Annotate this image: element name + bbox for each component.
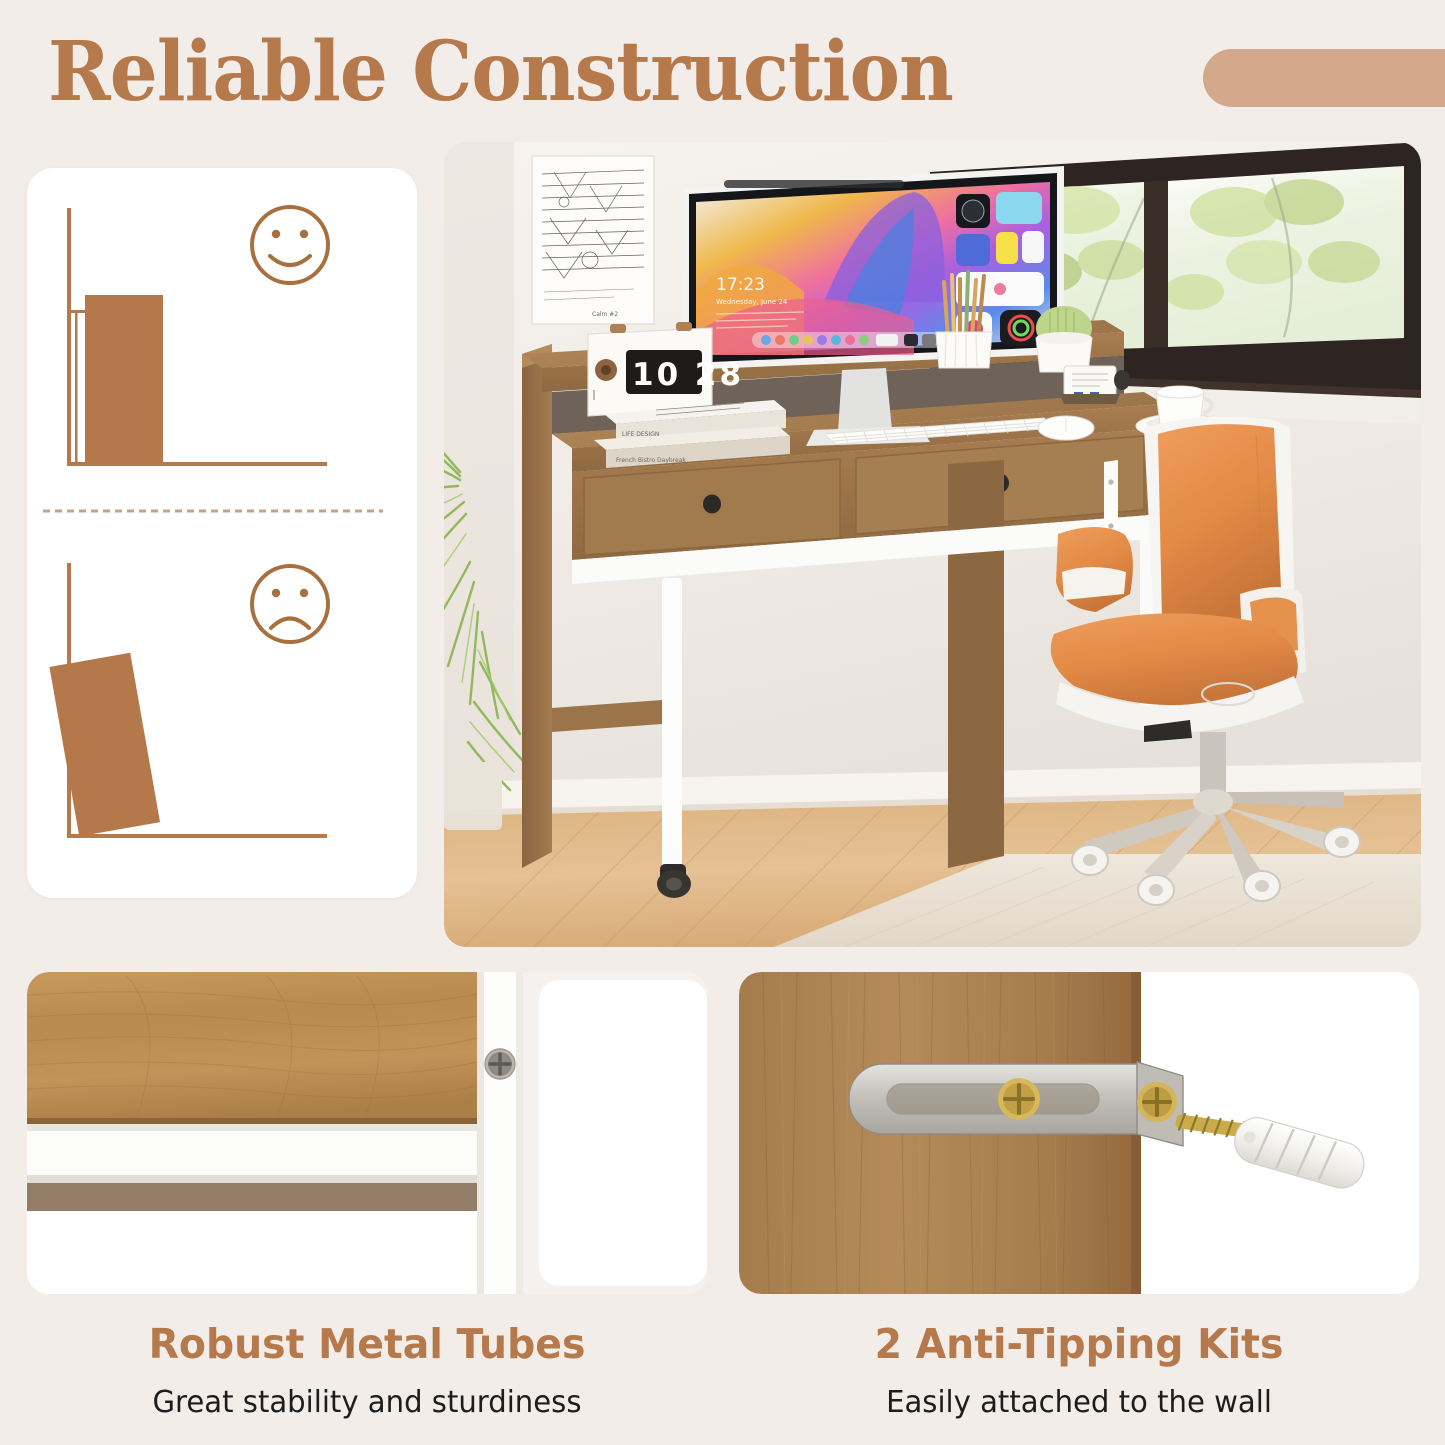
- desk-in-room-lifestyle-photo: Calm #2: [444, 142, 1421, 947]
- feature-caption-left: Robust Metal Tubes Great stability and s…: [27, 1318, 707, 1422]
- feature-heading-metal-tubes: Robust Metal Tubes: [41, 1318, 694, 1370]
- drawer-knob-left: [703, 495, 721, 514]
- screen-clock-time: 17:23: [716, 275, 765, 295]
- page-title: Reliable Construction: [48, 24, 953, 120]
- product-feature-page: Reliable Construction: [0, 0, 1445, 1445]
- wall-line: [67, 208, 71, 465]
- diagram-bad-tipping: [49, 563, 328, 838]
- furniture-block-tilted: [49, 653, 160, 837]
- screen-dock: [752, 332, 942, 348]
- flip-clock-time: 10 28: [632, 357, 744, 393]
- wall-inner-line: [75, 310, 78, 465]
- header: Reliable Construction: [0, 0, 1445, 135]
- white-metal-tube: [27, 1124, 477, 1182]
- cactus-planter: [1036, 306, 1092, 372]
- feature-caption-right: 2 Anti-Tipping Kits Easily attached to t…: [739, 1318, 1419, 1422]
- metal-tube-frame-closeup: [27, 972, 707, 1294]
- metal-frame-front-leg: [662, 578, 682, 870]
- svg-text:LIFE DESIGN: LIFE DESIGN: [622, 431, 659, 438]
- title-accent-bar: [1203, 49, 1445, 107]
- anti-tipping-bracket-closeup: [739, 972, 1419, 1294]
- mouse: [1038, 416, 1094, 440]
- feature-subtitle-metal-tubes: Great stability and sturdiness: [37, 1384, 697, 1422]
- bracket-slot: [887, 1084, 1099, 1114]
- sad-face-icon: [252, 566, 328, 642]
- floor-line: [67, 834, 327, 838]
- feature-heading-anti-tipping: 2 Anti-Tipping Kits: [753, 1318, 1406, 1370]
- caster-wheel: [657, 864, 691, 898]
- diagram-good-upright: [67, 207, 328, 466]
- wood-desktop-edge: [27, 972, 477, 1124]
- desk-right-panel: [948, 460, 1004, 868]
- svg-text:Calm #2: Calm #2: [592, 311, 618, 318]
- feature-subtitle-anti-tipping: Easily attached to the wall: [749, 1384, 1409, 1422]
- window-mullion: [1144, 180, 1168, 348]
- wall-art-poster: Calm #2: [532, 156, 654, 324]
- monitor-stand-neck: [838, 368, 892, 432]
- wall-left-shadow: [444, 142, 514, 842]
- screw-head: [485, 1049, 515, 1079]
- furniture-block-upright: [85, 295, 163, 463]
- svg-text:French Bistro Daybreak: French Bistro Daybreak: [616, 457, 686, 464]
- smiley-face-icon: [252, 207, 328, 283]
- screw-in-slot: [998, 1078, 1040, 1120]
- screen-clock-date: Wednesday, June 24: [716, 298, 788, 306]
- desk-left-side-panel: [522, 344, 552, 868]
- under-shadow: [27, 1183, 477, 1211]
- stability-comparison-diagram: [27, 168, 417, 898]
